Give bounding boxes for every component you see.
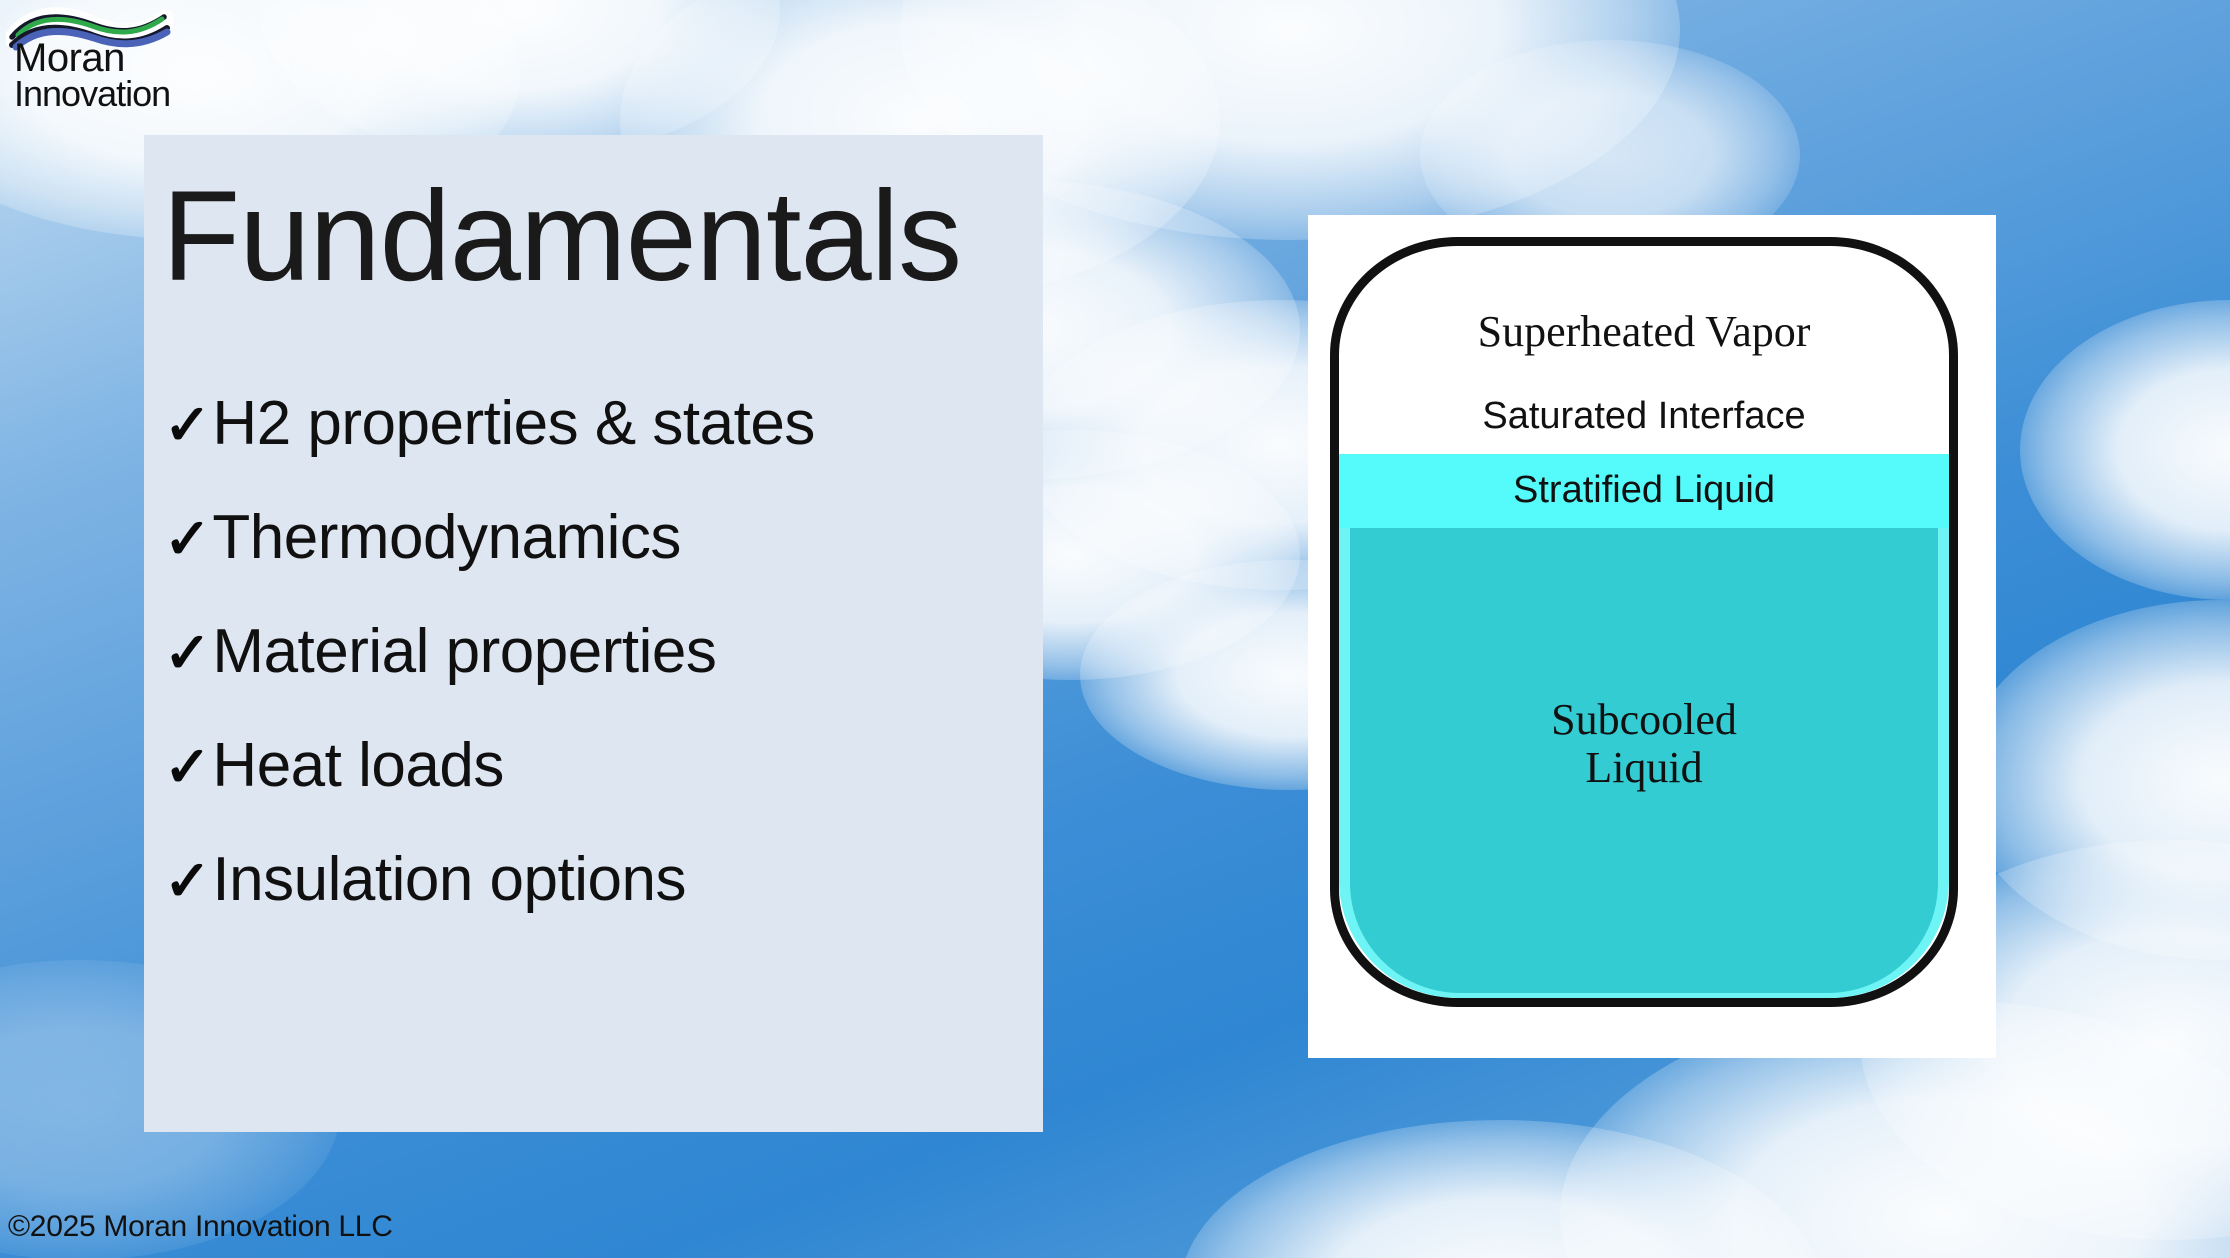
list-item: ✓ Thermodynamics [164,507,1024,569]
checkmark-icon: ✓ [164,397,210,453]
list-item: ✓ H2 properties & states [164,393,1024,455]
list-item: ✓ Material properties [164,621,1024,683]
subcooled-liquid-region: Subcooled Liquid [1350,528,1938,993]
list-item: ✓ Insulation options [164,849,1024,911]
list-item-label: Heat loads [212,735,503,797]
slide-canvas: Moran Innovation Fundamentals ✓ H2 prope… [0,0,2230,1258]
checkmark-icon: ✓ [164,853,210,909]
list-item-label: Material properties [212,621,716,683]
page-title: Fundamentals [162,173,961,301]
footer-copyright: ©2025 Moran Innovation LLC [8,1210,393,1244]
bullet-list: ✓ H2 properties & states ✓ Thermodynamic… [164,393,1024,963]
saturated-interface-label: Saturated Interface [1339,396,1949,437]
cryogenic-tank-figure: Stratified Liquid Subcooled Liquid Super… [1308,215,1996,1058]
stratified-liquid-label: Stratified Liquid [1339,470,1949,511]
content-panel: Fundamentals ✓ H2 properties & states ✓ … [144,135,1043,1132]
checkmark-icon: ✓ [164,625,210,681]
checkmark-icon: ✓ [164,739,210,795]
list-item-label: Insulation options [212,849,686,911]
list-item-label: Thermodynamics [212,507,680,569]
subcooled-liquid-label: Subcooled Liquid [1350,696,1938,791]
subcooled-liquid-rim: Subcooled Liquid [1339,528,1949,998]
subcooled-liquid-label-line2: Liquid [1585,743,1702,792]
company-logo: Moran Innovation [6,4,174,122]
list-item: ✓ Heat loads [164,735,1024,797]
checkmark-icon: ✓ [164,511,210,567]
list-item-label: H2 properties & states [212,393,814,455]
tank-vessel-outline: Stratified Liquid Subcooled Liquid Super… [1330,237,1958,1007]
logo-text-innovation: Innovation [14,76,170,112]
subcooled-liquid-label-line1: Subcooled [1551,695,1737,744]
stratified-liquid-region: Stratified Liquid [1339,454,1949,528]
superheated-vapor-label: Superheated Vapor [1339,308,1949,356]
logo-text-moran: Moran [14,38,125,78]
